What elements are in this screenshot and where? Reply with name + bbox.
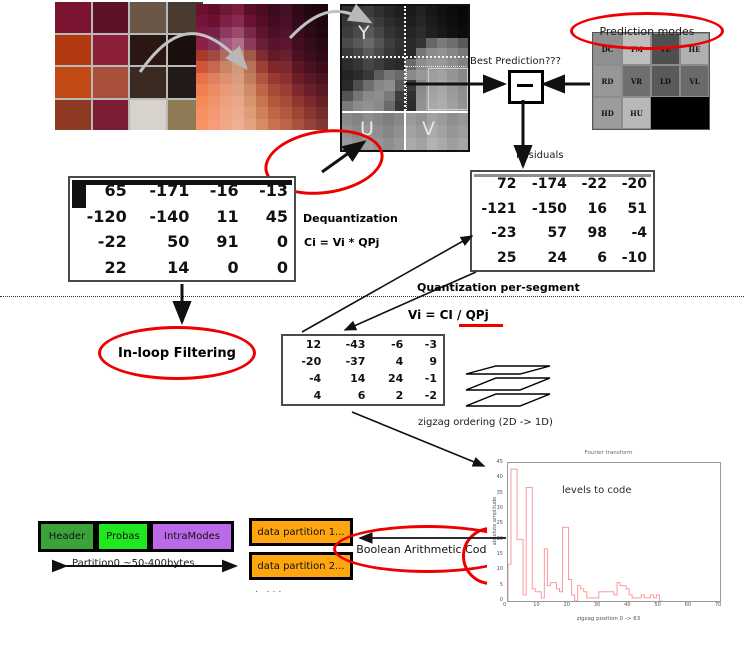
data-partition-label: data partition 2... [257,561,344,572]
pred-mode-label: VL [689,77,699,86]
residuals-matrix-table: 72-174-22-20 -121-1501651 -235798-4 2524… [472,172,653,270]
chart-series-path [508,463,720,601]
selected-subblock [428,68,468,110]
yuv-planes-block: Y U V [340,4,470,152]
quantization-label: Quantization per-segment [417,281,580,294]
subblock-guide-horizontal [406,66,466,67]
pred-mode-vl[interactable]: VL [680,65,709,97]
quantized-levels-matrix: 12-43-6-3 -20-3749 -41424-1 462-2 [281,334,445,406]
dequantized-coefficients-matrix: 65-171-16-13 -120-1401145 -2250910 22140… [68,176,296,282]
pred-mode-label: RD [602,77,614,86]
pred-mode-label: VR [631,77,642,86]
bitstream-block-header[interactable]: Header [38,521,96,552]
in-loop-filtering-node[interactable]: In-loop Filtering [98,326,256,380]
pred-mode-label: HD [601,109,614,118]
table-row: 72-174-22-20 [472,172,653,197]
partition0-size-label: Partition0 ~50-400bytes [72,558,195,569]
chart-y-tick: 15 [489,551,503,557]
best-prediction-label: Best Prediction??? [470,56,561,67]
pred-mode-label: LD [660,77,671,86]
plane-label-v: V [422,118,435,140]
chart-x-tick: 20 [564,602,570,608]
table-row: 12-43-6-3 [283,336,443,353]
chart-y-tick: 20 [489,536,503,542]
chart-x-tick: 50 [654,602,660,608]
chart-x-tick: 70 [715,602,721,608]
chart-x-tick: 60 [685,602,691,608]
pred-mode-hu[interactable]: HU [622,97,651,129]
table-row: -41424-1 [283,370,443,387]
chart-y-tick: 5 [489,582,503,588]
table-row: -121-1501651 [472,197,653,222]
partition-ellipsis: . ... [255,585,284,595]
chart-y-tick: 10 [489,566,503,572]
chroma-plane-v [406,113,468,150]
zoomed-macroblock [196,4,328,130]
chart-x-tick: 0 [503,602,506,608]
zigzag-label: zigzag ordering (2D -> 1D) [418,417,553,428]
table-row: 221400 [70,255,294,281]
dequantized-matrix-table: 65-171-16-13 -120-1401145 -2250910 22140… [70,178,294,280]
chart-x-tick: 10 [533,602,539,608]
residuals-matrix: 72-174-22-20 -121-1501651 -235798-4 2524… [470,170,655,272]
table-row: 25246-10 [472,246,653,271]
table-row: 65-171-16-13 [70,178,294,204]
dequantization-label: Dequantization [303,212,398,225]
pipeline-divider [0,296,744,297]
data-partition-label: data partition 1... [257,527,344,538]
table-row: 462-2 [283,387,443,404]
table-row: -235798-4 [472,221,653,246]
prediction-modes-label: Prediction modes [599,25,694,38]
quantization-formula: Vi = CI / QPj [408,308,489,322]
source-frame-tiles [55,2,203,130]
table-row: -2250910 [70,229,294,255]
chart-title: Fourier transform [487,450,730,456]
bitstream-block-label: Probas [106,531,140,542]
coefficient-amplitude-chart: Fourier transform absolute amplitude zig… [487,450,730,632]
luma-horizontal-divider [342,56,468,58]
subblock-guide-vertical [406,66,407,110]
quantized-matrix-table: 12-43-6-3 -20-3749 -41424-1 462-2 [283,336,443,404]
pred-mode-vr[interactable]: VR [622,65,651,97]
chart-y-tick: 40 [489,474,503,480]
pred-mode-ld[interactable]: LD [651,65,680,97]
bitstream-block-intramodes[interactable]: IntraModes [150,521,234,552]
pred-mode-empty-2 [680,97,709,129]
table-row: -120-1401145 [70,204,294,230]
pred-mode-label: HU [630,109,643,118]
chart-plot-area: levels to code [507,462,721,602]
chart-y-tick: 45 [489,459,503,465]
prediction-modes-highlight: Prediction modes [570,12,724,50]
chart-x-tick: 40 [624,602,630,608]
chart-y-tick: 30 [489,505,503,511]
bitstream-block-probas[interactable]: Probas [96,521,150,552]
chart-y-tick: 35 [489,490,503,496]
in-loop-filtering-label: In-loop Filtering [118,346,236,361]
dequantization-formula: Ci = Vi * QPj [304,236,379,249]
pred-mode-rd[interactable]: RD [593,65,622,97]
chart-x-tick: 30 [594,602,600,608]
zigzag-scan-icon [462,364,554,412]
bitstream-block-label: IntraModes [164,531,220,542]
pred-mode-hd[interactable]: HD [593,97,622,129]
table-row: -20-3749 [283,353,443,370]
pred-mode-empty-1 [651,97,680,129]
quant-formula-underline [459,324,503,327]
subtract-node [508,70,544,104]
plane-label-y: Y [358,22,370,44]
chart-y-tick: 25 [489,520,503,526]
chart-y-tick: 0 [489,597,503,603]
residuals-label: Residuals [516,150,563,161]
chart-x-axis-label: zigzag position 0 -> 63 [487,616,730,622]
bitstream-block-label: Header [49,531,85,542]
